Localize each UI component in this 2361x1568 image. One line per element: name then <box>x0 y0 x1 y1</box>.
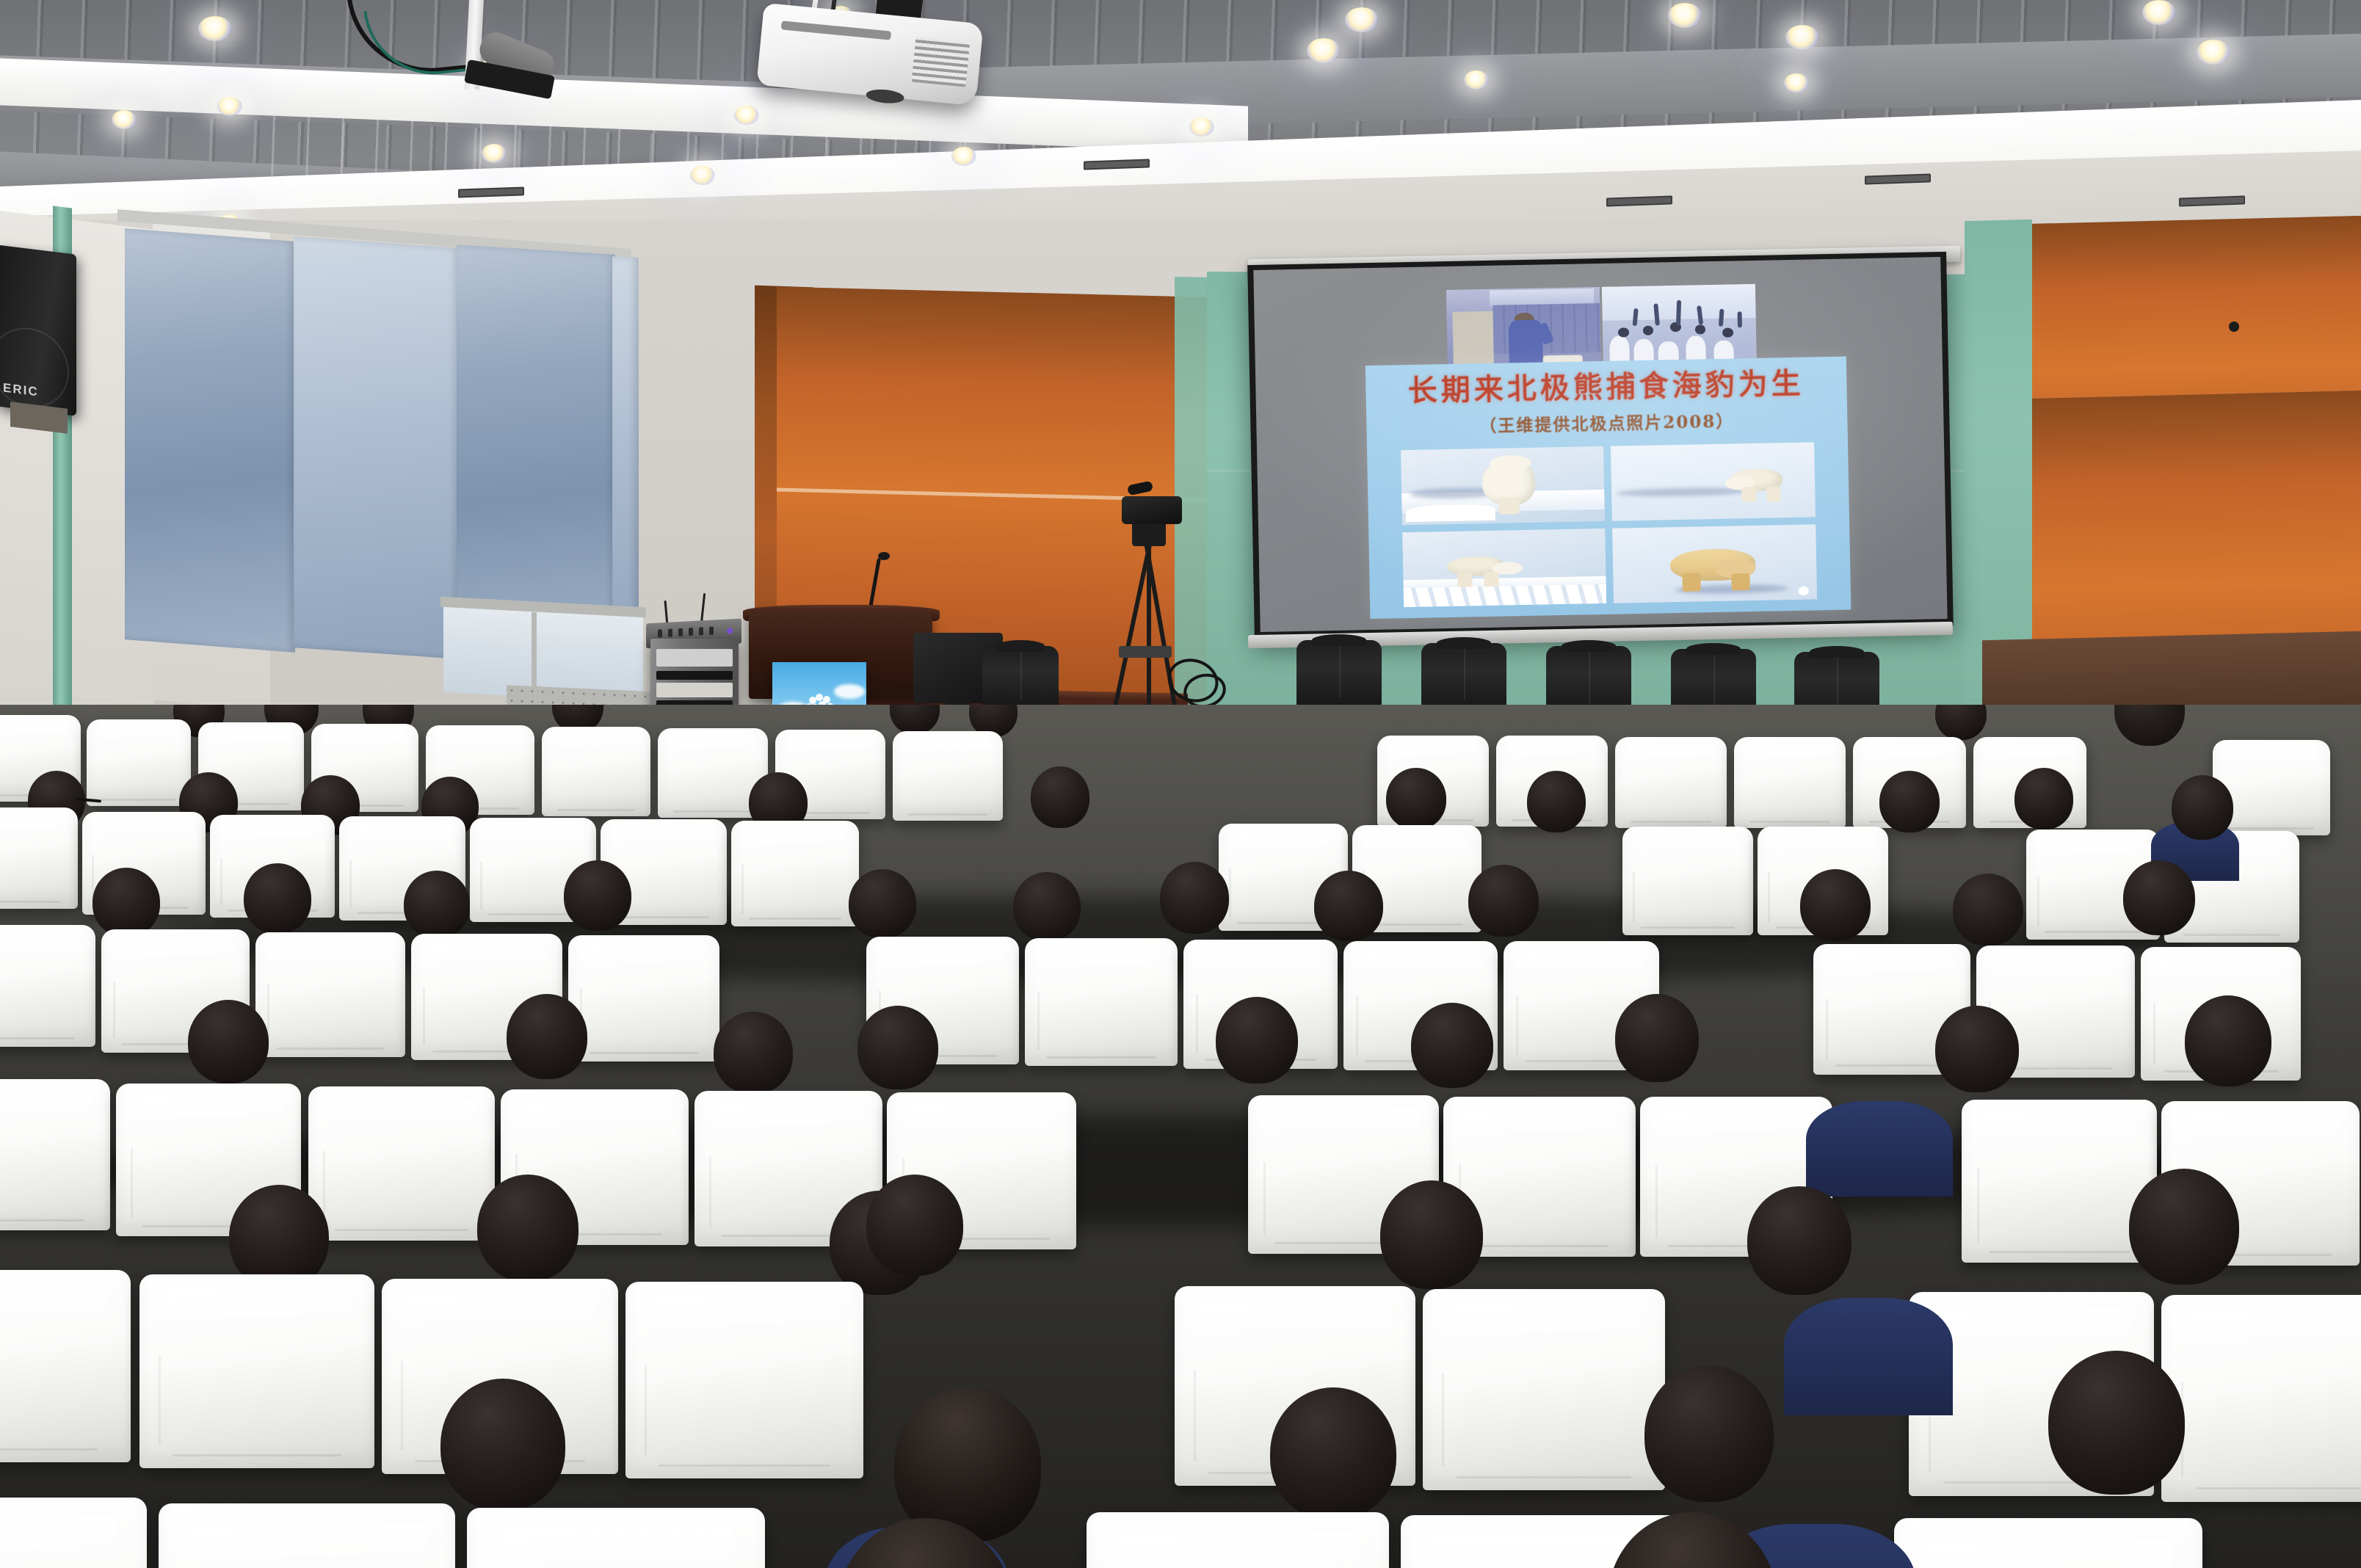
white-chair-cover[interactable] <box>568 935 719 1061</box>
white-chair-cover[interactable] <box>308 1086 495 1241</box>
ceiling-downlight <box>217 97 242 116</box>
speaker-camera-feed <box>1446 287 1601 369</box>
white-chair-cover[interactable] <box>1962 1100 2157 1263</box>
audience-head <box>1800 869 1871 941</box>
audience-camera-feed <box>1602 284 1757 366</box>
slide-title: 长期来北极熊捕食海豹为生 <box>1366 357 1847 407</box>
video-feed-row <box>1446 284 1757 370</box>
audience-head <box>890 705 940 734</box>
ceiling-downlight <box>734 106 759 125</box>
screen-surface: 长期来北极熊捕食海豹为生 （王维提供北极点照片2008） <box>1253 257 1947 632</box>
audience-head <box>1380 1180 1483 1289</box>
audience-head <box>93 868 160 937</box>
audience-head <box>714 1012 793 1094</box>
polar-bear-photo-4 <box>1612 524 1817 603</box>
audience-head <box>1160 862 1229 934</box>
feed-raised-hand <box>1719 308 1724 326</box>
audience-head <box>1314 871 1383 941</box>
white-chair-cover[interactable] <box>0 1498 147 1568</box>
window-blind <box>294 236 460 659</box>
audience-head <box>1644 1365 1774 1502</box>
white-chair-cover[interactable] <box>255 932 405 1057</box>
video-camera-on-tripod <box>1122 496 1182 524</box>
white-chair-cover[interactable] <box>0 1270 131 1462</box>
panel-chair[interactable] <box>1296 640 1382 708</box>
white-chair-cover[interactable] <box>1025 938 1178 1066</box>
ceiling-downlight <box>482 144 507 163</box>
audience-shoulders <box>1806 1101 1953 1197</box>
audience-head <box>404 871 470 938</box>
feed-raised-hand <box>1738 311 1743 327</box>
audience-head <box>507 994 587 1079</box>
audience-head <box>1270 1387 1396 1520</box>
feed-raised-hand <box>1675 300 1680 325</box>
audience-head <box>857 1006 938 1089</box>
white-chair-cover[interactable] <box>139 1274 374 1468</box>
audience-head <box>2172 775 2233 840</box>
ceiling-downlight <box>1307 38 1341 63</box>
wall-mounted-sensor-icon <box>2229 322 2239 332</box>
white-chair-cover[interactable] <box>467 1508 765 1568</box>
audience-head <box>229 1185 329 1289</box>
white-chair-cover[interactable] <box>0 925 95 1047</box>
audience-head <box>2129 1169 2239 1285</box>
audience-head <box>2048 1351 2185 1495</box>
audience-head <box>1013 872 1081 941</box>
feed-student-head <box>1642 326 1653 335</box>
feed-student-head <box>1618 328 1629 338</box>
audience-head <box>2185 995 2271 1086</box>
projection-screen[interactable]: 长期来北极熊捕食海豹为生 （王维提供北极点照片2008） <box>1247 252 1954 639</box>
white-chair-cover[interactable] <box>1423 1289 1665 1490</box>
ceiling-downlight <box>1464 70 1489 90</box>
white-chair-cover[interactable] <box>731 821 859 926</box>
polar-bear-photo-grid <box>1401 443 1817 608</box>
projector-vent-icon <box>912 37 971 87</box>
wall-speaker: ERIC <box>0 244 76 416</box>
feed-lectern <box>1453 311 1494 369</box>
tripod-leg <box>1147 534 1151 714</box>
audience-head <box>477 1175 579 1282</box>
white-chair-cover[interactable] <box>1894 1518 2202 1568</box>
white-chair-cover[interactable] <box>1615 737 1727 828</box>
panel-chair[interactable] <box>1546 646 1631 714</box>
audience-head <box>1953 874 2023 945</box>
tripod-head <box>1132 521 1166 546</box>
white-chair-cover[interactable] <box>1734 737 1846 828</box>
audience-shoulders <box>1784 1298 1953 1415</box>
presentation-slide: 长期来北极熊捕食海豹为生 （王维提供北极点照片2008） <box>1366 357 1852 620</box>
ceiling-downlight <box>2197 40 2230 65</box>
white-chair-cover[interactable] <box>2161 1295 2361 1502</box>
white-chair-cover[interactable] <box>625 1282 863 1478</box>
audience-head <box>1935 1006 2019 1092</box>
polar-bear-photo-3 <box>1402 529 1607 607</box>
white-chair-cover[interactable] <box>0 807 78 909</box>
audience-head <box>2014 768 2073 830</box>
ceiling-downlight <box>1668 3 1702 28</box>
ceiling-downlight <box>1784 73 1809 92</box>
audience-head <box>1527 771 1586 832</box>
audience-head <box>244 863 311 934</box>
audience-head <box>1386 768 1446 830</box>
white-chair-cover[interactable] <box>1622 827 1753 935</box>
slide-subtitle: （王维提供北极点照片2008） <box>1366 405 1848 440</box>
audience-head <box>849 869 916 938</box>
audience-head <box>2114 705 2185 746</box>
audience-head <box>188 1000 269 1084</box>
rack-unit <box>656 671 733 680</box>
audience-head <box>1879 771 1940 832</box>
panel-chair[interactable] <box>1421 643 1506 711</box>
audience-head <box>1935 705 1987 740</box>
ceiling-downlight <box>690 166 715 185</box>
white-chair-cover[interactable] <box>159 1503 455 1568</box>
audience-head <box>1411 1003 1493 1088</box>
audience-head <box>2123 860 2195 935</box>
tripod-spreader <box>1119 646 1172 658</box>
ceiling-downlight <box>1785 25 1819 50</box>
white-chair-cover[interactable] <box>542 727 650 816</box>
projector-top-strip <box>781 21 891 40</box>
polar-bear-photo-2 <box>1611 443 1816 521</box>
audience-head <box>866 1175 963 1276</box>
ceiling-downlight <box>112 110 137 129</box>
window-blind <box>612 256 639 661</box>
ceiling-downlight <box>1345 7 1379 32</box>
rack-unit <box>656 649 733 667</box>
window-blind <box>125 228 295 653</box>
rack-unit <box>656 683 733 697</box>
ceiling-downlight <box>1189 117 1214 137</box>
microphone-head-icon <box>878 552 890 560</box>
mixer-led <box>727 628 733 634</box>
audience-head <box>1216 997 1298 1084</box>
feed-student-head <box>1722 327 1733 337</box>
audience-head <box>1031 766 1089 828</box>
feed-student-head <box>1694 324 1705 334</box>
ceiling-downlight <box>198 16 232 41</box>
audience-head <box>1615 994 1699 1082</box>
audience-head <box>564 860 631 931</box>
white-chair-cover[interactable] <box>0 1079 110 1230</box>
white-chair-cover[interactable] <box>1087 1512 1389 1568</box>
ceiling-downlight <box>951 147 976 166</box>
auditorium-scene: ERIC <box>0 0 2361 1568</box>
white-chair-cover[interactable] <box>893 731 1003 821</box>
audience-head <box>440 1379 565 1511</box>
audience-head <box>1747 1186 1852 1295</box>
seated-audience <box>0 705 2361 1568</box>
operator-chair[interactable] <box>982 646 1059 708</box>
white-chair-cover[interactable] <box>87 719 191 806</box>
audience-head <box>1468 865 1539 937</box>
polar-bear-photo-1 <box>1401 446 1606 525</box>
ceiling-downlight <box>2142 0 2176 25</box>
